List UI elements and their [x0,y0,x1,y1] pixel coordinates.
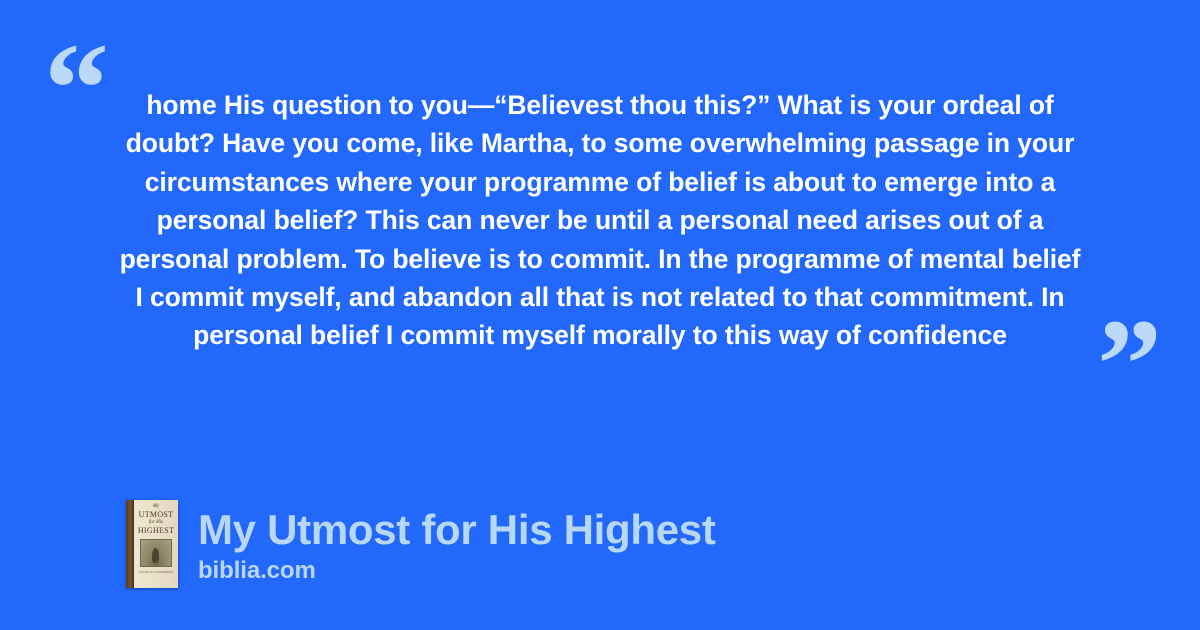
book-cover-line-utmost: UTMOST [136,510,176,520]
book-cover-author: OSWALD CHAMBERS [136,570,176,575]
book-spine [126,500,134,588]
footer: My UTMOST for His HIGHEST OSWALD CHAMBER… [126,500,716,588]
quote-card: “ home His question to you—“Believest th… [0,0,1200,630]
quote-area: “ home His question to you—“Believest th… [0,0,1200,440]
book-cover-illustration [140,539,172,567]
opening-quote-icon: “ [44,24,109,154]
closing-quote-icon: ” [1097,300,1162,430]
book-cover-image: My UTMOST for His HIGHEST OSWALD CHAMBER… [126,500,178,588]
book-title: My Utmost for His Highest [198,506,716,554]
book-cover-line-highest: HIGHEST [136,526,176,536]
quote-text: home His question to you—“Believest thou… [118,86,1082,355]
source-site[interactable]: biblia.com [198,556,716,586]
footer-text-block: My Utmost for His Highest biblia.com [198,500,716,586]
book-cover-front: My UTMOST for His HIGHEST OSWALD CHAMBER… [134,500,178,588]
